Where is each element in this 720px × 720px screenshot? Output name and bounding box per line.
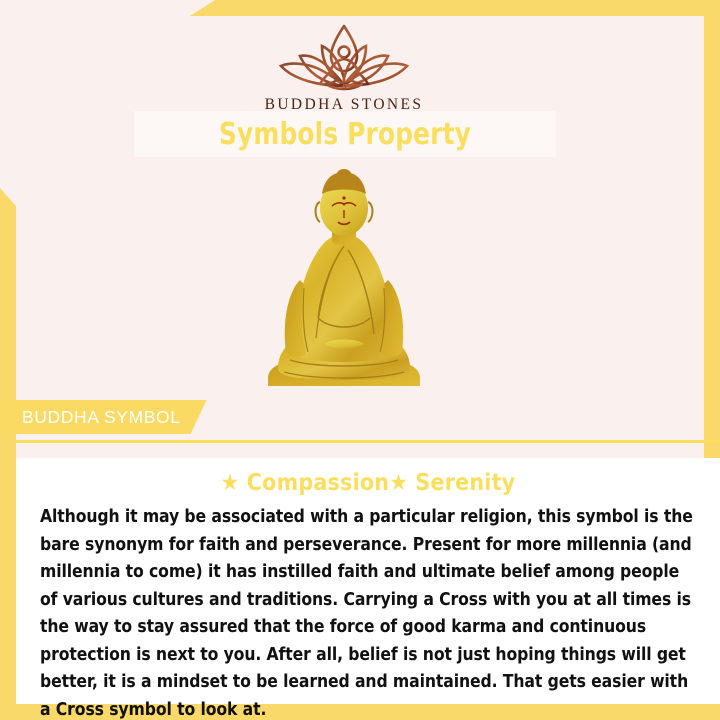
body-paragraph: Although it may be associated with a par… — [40, 504, 696, 720]
symbol-ribbon-label: BUDDHA SYMBOL — [0, 400, 207, 434]
golden-seated-buddha-statue-icon — [244, 168, 444, 394]
ribbon-text: BUDDHA SYMBOL — [22, 407, 181, 428]
content-panel: ★ Compassion★ Serenity Although it may b… — [16, 458, 720, 704]
panel-top-rule — [16, 440, 720, 443]
brand-logo: BUDDHA STONES — [0, 22, 688, 114]
decorative-frame-top — [190, 0, 720, 16]
poster-canvas: BUDDHA STONES Symbols Property — [0, 0, 720, 720]
page-title: Symbols Property — [219, 117, 471, 152]
lotus-meditation-figure-icon — [264, 22, 424, 94]
virtues-heading: ★ Compassion★ Serenity — [40, 470, 696, 496]
hero-image — [0, 168, 688, 394]
title-band: Symbols Property — [134, 111, 556, 157]
